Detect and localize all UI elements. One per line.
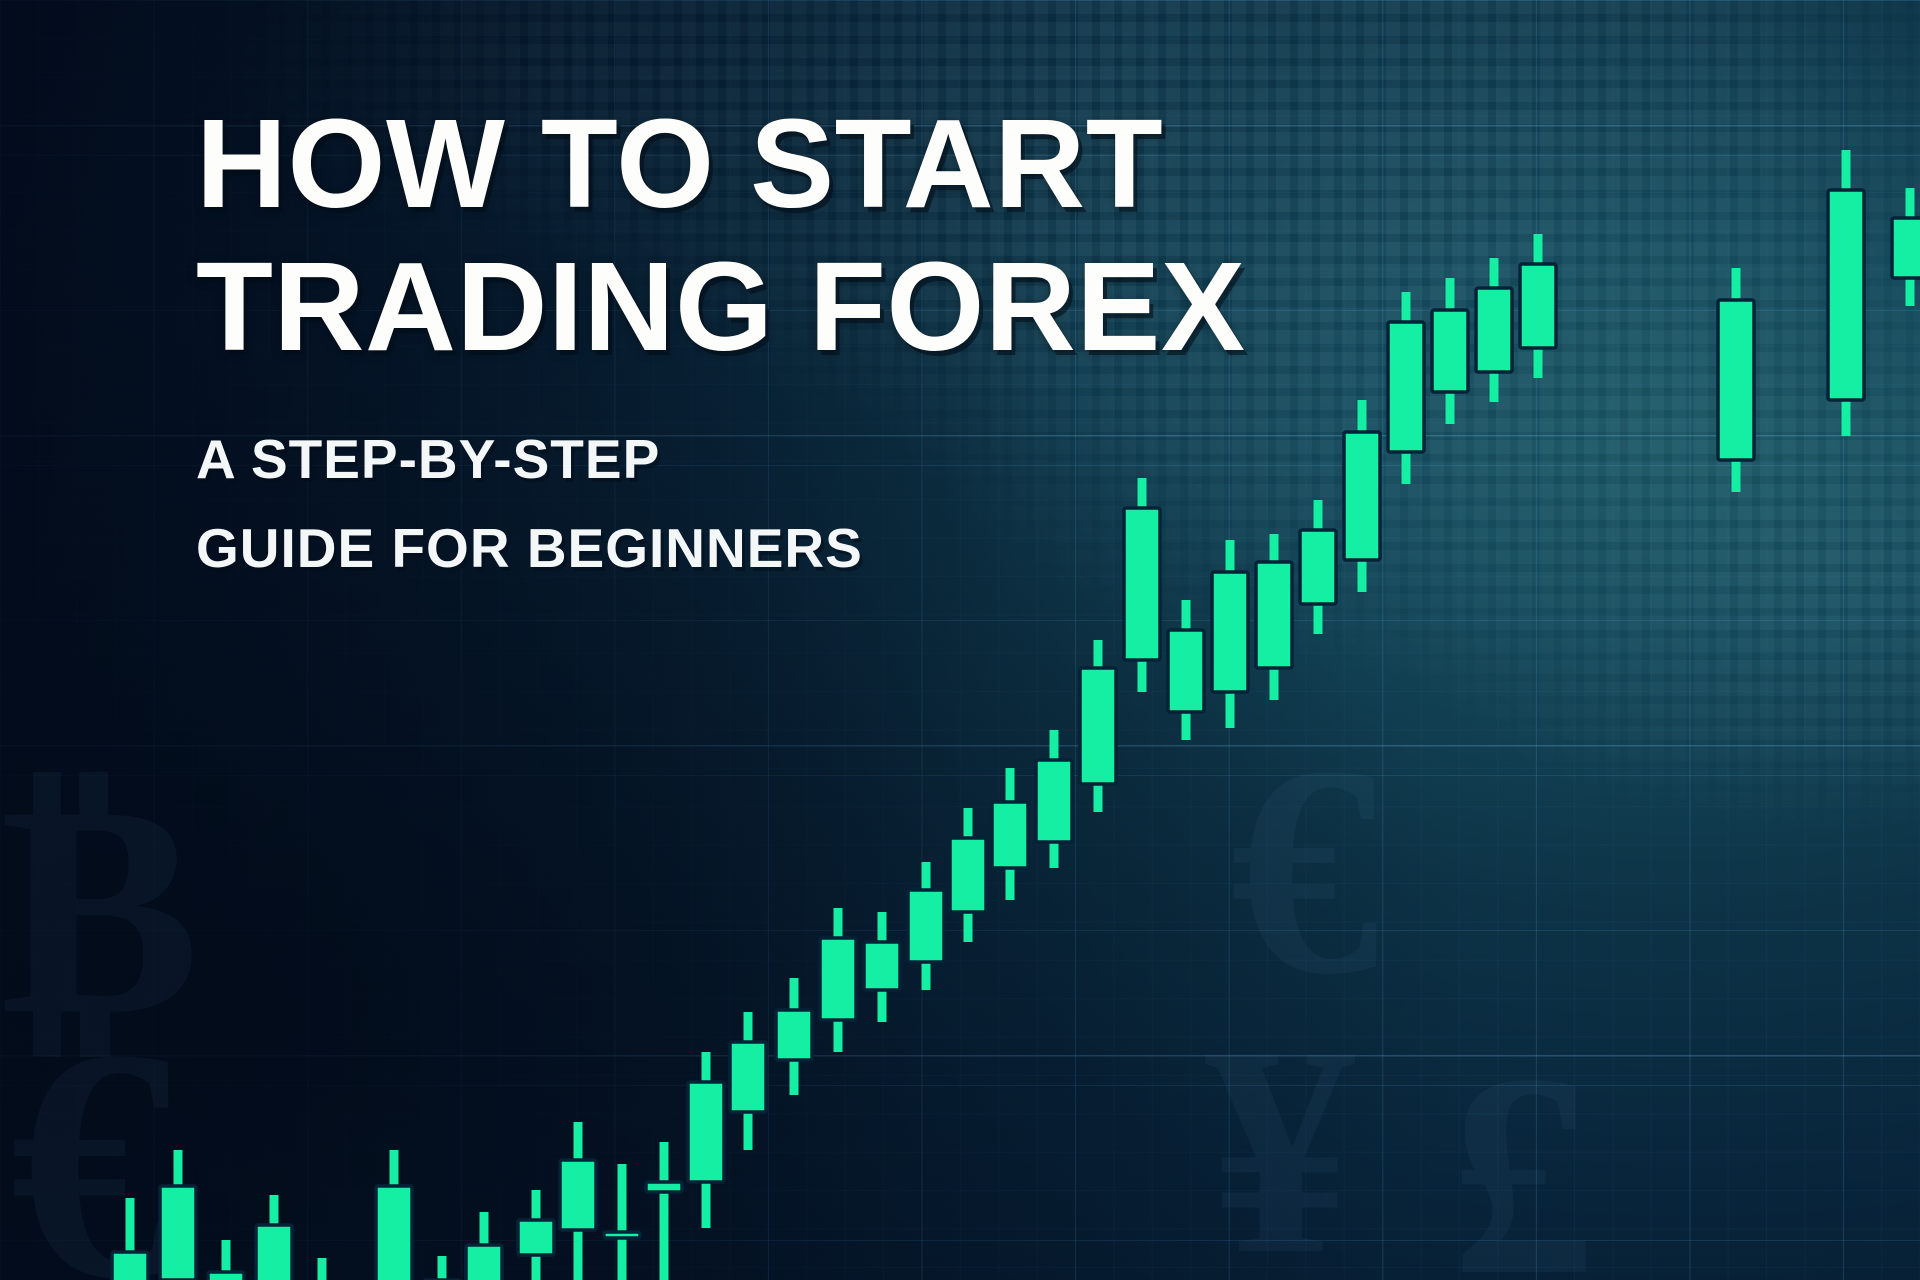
candlestick <box>950 808 986 942</box>
candlestick <box>730 1012 766 1150</box>
headline-line-2: TRADING FOREX <box>196 247 1246 368</box>
candlestick <box>1168 600 1204 740</box>
candle-body <box>518 1220 554 1255</box>
candlestick <box>376 1150 412 1280</box>
candle-body <box>1432 310 1468 392</box>
candle-body <box>1344 432 1380 560</box>
candlestick <box>820 908 856 1052</box>
candlestick <box>1828 150 1864 436</box>
candlestick <box>992 768 1028 900</box>
subtitle-line-1: A STEP-BY-STEP <box>196 430 1246 489</box>
candlestick <box>1432 278 1468 424</box>
candlestick <box>1388 292 1424 484</box>
candle-body <box>1080 668 1116 784</box>
candlestick <box>1300 500 1336 634</box>
candle-body <box>1168 630 1204 712</box>
candle-body <box>112 1252 148 1280</box>
candlestick <box>776 978 812 1095</box>
candlestick <box>560 1122 596 1280</box>
candle-body <box>1520 264 1556 348</box>
candlestick <box>518 1190 554 1280</box>
candle-body <box>864 942 900 990</box>
candle-body <box>950 838 986 912</box>
candle-body <box>466 1245 502 1280</box>
candle-body <box>646 1182 682 1192</box>
candle-body <box>560 1160 596 1230</box>
candle-body <box>256 1225 292 1280</box>
candle-body <box>1036 760 1072 842</box>
candlestick <box>864 912 900 1022</box>
candle-body <box>1212 572 1248 692</box>
candlestick <box>1256 534 1292 700</box>
candlestick <box>1892 188 1920 306</box>
candle-body <box>160 1186 196 1280</box>
banner-text-block: HOW TO START TRADING FOREX A STEP-BY-STE… <box>196 104 1246 579</box>
candle-body <box>1892 218 1920 278</box>
subtitle-group: A STEP-BY-STEP GUIDE FOR BEGINNERS <box>196 430 1246 579</box>
candle-body <box>1388 322 1424 452</box>
candlestick <box>160 1150 196 1280</box>
candlestick <box>466 1212 502 1280</box>
candlestick <box>1344 400 1380 592</box>
candlestick <box>256 1195 292 1280</box>
candle-body <box>1476 288 1512 372</box>
candle-body <box>208 1272 244 1280</box>
candle-body <box>688 1082 724 1182</box>
candle-body <box>376 1186 412 1280</box>
candle-body <box>908 890 944 962</box>
candlestick <box>112 1198 148 1280</box>
candlestick <box>688 1052 724 1228</box>
headline-line-1: HOW TO START <box>196 104 1246 225</box>
candlestick <box>646 1142 682 1280</box>
candle-body <box>1718 300 1754 460</box>
candle-body <box>730 1042 766 1112</box>
forex-banner: ₿€€¥£ HOW TO START TRADING FOREX A STEP-… <box>0 0 1920 1280</box>
candle-body <box>992 802 1028 868</box>
candlestick <box>1520 234 1556 378</box>
candlestick <box>1718 268 1754 492</box>
candlestick <box>304 1258 340 1280</box>
candle-body <box>604 1232 640 1238</box>
candle-body <box>776 1010 812 1060</box>
candlestick <box>1036 730 1072 868</box>
candlestick <box>208 1240 244 1280</box>
candle-body <box>1256 562 1292 668</box>
candle-body <box>1300 530 1336 604</box>
candlestick <box>1476 258 1512 402</box>
candlestick <box>424 1256 460 1280</box>
candle-body <box>1828 190 1864 400</box>
candlestick <box>604 1164 640 1280</box>
candlestick <box>1080 640 1116 812</box>
candlestick <box>908 862 944 990</box>
candle-body <box>820 938 856 1020</box>
subtitle-line-2: GUIDE FOR BEGINNERS <box>196 519 1246 578</box>
